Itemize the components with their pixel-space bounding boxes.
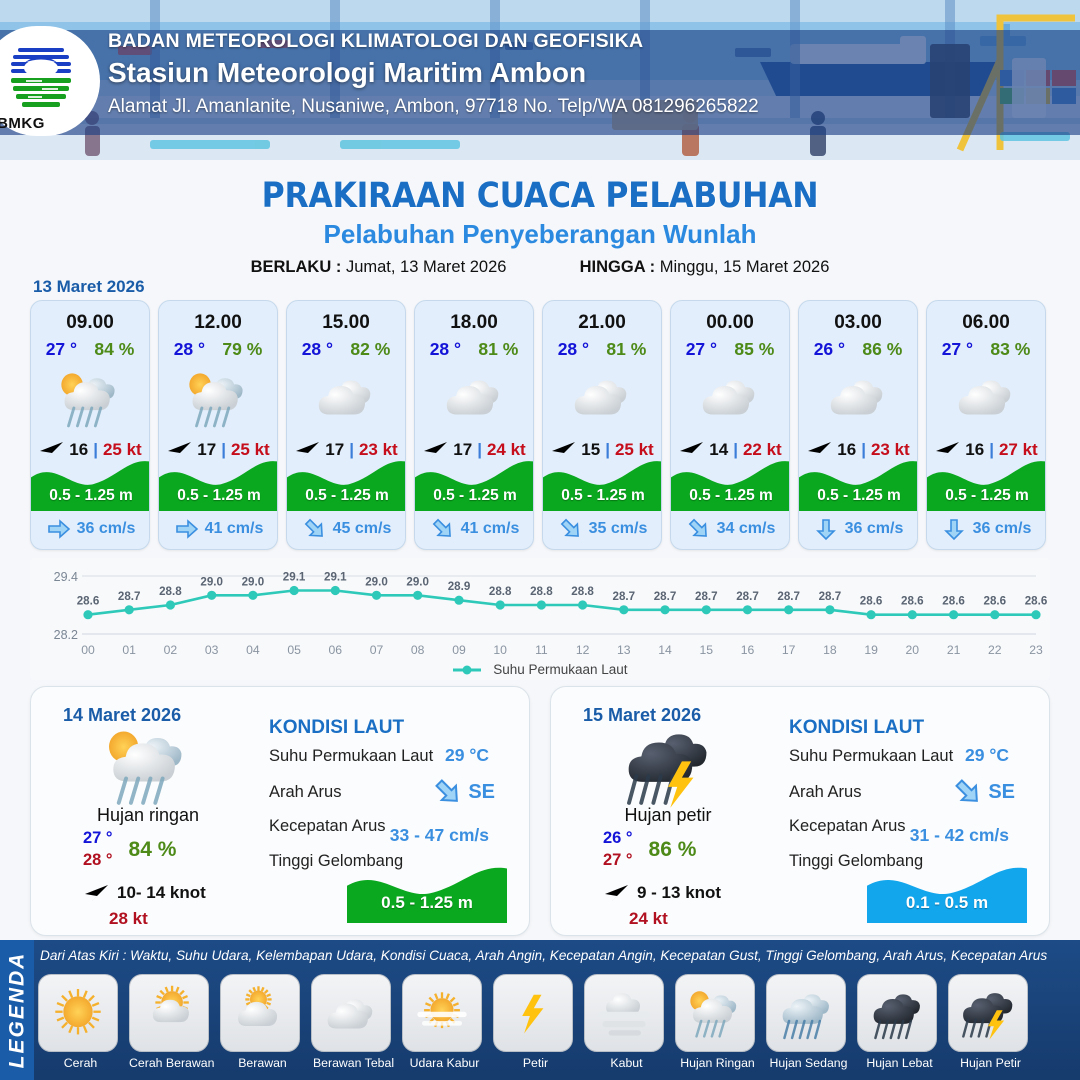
svg-text:28.6: 28.6 <box>942 595 965 608</box>
mostly-cloudy-icon <box>229 984 291 1041</box>
panel-temperatures: 26 ° 27 ° 86 % <box>603 829 696 870</box>
legend-item-label: Kabut <box>584 1056 669 1070</box>
card-weather-icon <box>31 362 149 434</box>
legend-icon-tile <box>857 974 937 1052</box>
svg-text:15: 15 <box>700 643 714 657</box>
legend-note: Dari Atas Kiri : Waktu, Suhu Udara, Kele… <box>40 948 1047 963</box>
legend-item: Udara Kabur <box>402 974 487 1070</box>
panel-temp-max: 27 ° <box>603 851 633 870</box>
svg-text:02: 02 <box>164 643 178 657</box>
card-weather-icon <box>927 362 1045 434</box>
legend-item-label: Hujan Lebat <box>857 1056 942 1070</box>
card-current-speed: 35 cm/s <box>589 520 648 538</box>
card-temperature: 27 ° <box>942 339 973 360</box>
panel-current-dir-value: SE <box>468 781 495 804</box>
svg-text:28.6: 28.6 <box>77 595 100 608</box>
card-weather-icon <box>159 362 277 434</box>
haze-icon <box>411 984 473 1041</box>
bmkg-logo-text: BMKG <box>0 115 60 132</box>
legend-item-label: Hujan Petir <box>948 1056 1033 1070</box>
svg-text:19: 19 <box>864 643 878 657</box>
legend-bar: LEGENDA Dari Atas Kiri : Waktu, Suhu Uda… <box>0 940 1080 1080</box>
card-weather-icon <box>671 362 789 434</box>
svg-text:28.7: 28.7 <box>613 590 636 603</box>
svg-text:29.1: 29.1 <box>324 571 347 584</box>
title-block: PRAKIRAAN CUACA PELABUHAN Pelabuhan Peny… <box>0 176 1080 277</box>
arrow-down-icon <box>943 517 967 541</box>
card-wave-height: 0.5 - 1.25 m <box>799 487 918 505</box>
legend-item: Kabut <box>584 974 669 1070</box>
card-humidity: 86 % <box>862 339 902 360</box>
card-temp-humidity: 27 ° 84 % <box>31 339 149 360</box>
arrow-down-right-icon <box>953 777 983 807</box>
card-temp-humidity: 27 ° 83 % <box>927 339 1045 360</box>
hingga-label: HINGGA : <box>580 258 655 276</box>
wind-direction-icon <box>603 883 629 903</box>
panel-condition: Hujan ringan <box>53 805 243 826</box>
svg-text:21: 21 <box>947 643 961 657</box>
card-time: 00.00 <box>671 312 789 334</box>
panel-humidity: 86 % <box>649 838 697 862</box>
hourly-forecast-card: 06.00 27 ° 83 % 16 | 27 kt <box>926 300 1046 550</box>
hingga-value: Minggu, 15 Maret 2026 <box>660 258 830 276</box>
svg-text:29.4: 29.4 <box>54 570 78 584</box>
panel-temperatures: 27 ° 28 ° 84 % <box>83 829 176 870</box>
wave-shape-icon <box>867 861 1027 923</box>
card-humidity: 79 % <box>222 339 262 360</box>
cloudy-icon <box>310 365 382 431</box>
rain-moderate-icon <box>775 984 837 1041</box>
svg-text:09: 09 <box>452 643 466 657</box>
card-temperature: 28 ° <box>174 339 205 360</box>
chart-legend-marker-icon <box>452 664 482 676</box>
overcast-icon <box>320 984 382 1041</box>
legend-spine: LEGENDA <box>0 940 34 1080</box>
card-current-speed: 36 cm/s <box>845 520 904 538</box>
svg-text:17: 17 <box>782 643 796 657</box>
cloudy-icon <box>950 365 1022 431</box>
card-current: 35 cm/s <box>543 517 662 541</box>
panel-wind-speed: 10- 14 knot <box>117 883 206 903</box>
panel-humidity: 84 % <box>129 838 177 862</box>
berlaku-label: BERLAKU : <box>251 258 342 276</box>
card-humidity: 83 % <box>990 339 1030 360</box>
daily-forecast-panel: 14 Maret 2026 Hujan ringan 27 ° 28 ° 84 … <box>30 686 530 936</box>
card-wave-height: 0.5 - 1.25 m <box>543 487 662 505</box>
daily-forecast-panel: 15 Maret 2026 Hujan petir 26 ° 27 ° 86 % <box>550 686 1050 936</box>
panel-wind: 10- 14 knot <box>83 883 206 903</box>
panel-current-dir-label: Arah Arus <box>789 783 861 802</box>
card-wave-height: 0.5 - 1.25 m <box>31 487 150 505</box>
legend-item: Hujan Sedang <box>766 974 851 1070</box>
card-current-speed: 45 cm/s <box>333 520 392 538</box>
legend-icon-tile <box>129 974 209 1052</box>
card-time: 09.00 <box>31 312 149 334</box>
card-temp-humidity: 27 ° 85 % <box>671 339 789 360</box>
legend-item-label: Berawan <box>220 1056 305 1070</box>
panel-sea-header: KONDISI LAUT <box>269 717 404 739</box>
panel-wave-value: 0.1 - 0.5 m <box>867 893 1027 913</box>
rain-light-icon <box>182 365 254 431</box>
card-current-speed: 36 cm/s <box>973 520 1032 538</box>
hourly-forecast-row: 09.00 27 ° 84 % 16 | 25 kt <box>30 300 1050 550</box>
panel-current-speed-value: 31 - 42 cm/s <box>910 825 1009 846</box>
svg-text:28.9: 28.9 <box>448 580 471 593</box>
panel-temp-min: 27 ° <box>83 829 113 848</box>
hourly-forecast-card: 18.00 28 ° 81 % 17 | 24 kt <box>414 300 534 550</box>
panel-gust: 28 kt <box>109 909 148 929</box>
svg-text:01: 01 <box>122 643 136 657</box>
hourly-forecast-card: 21.00 28 ° 81 % 15 | 25 kt <box>542 300 662 550</box>
legend-icon-tile <box>38 974 118 1052</box>
svg-text:00: 00 <box>81 643 95 657</box>
svg-text:22: 22 <box>988 643 1002 657</box>
panel-wave-graphic: 0.1 - 0.5 m <box>867 861 1027 923</box>
panel-temp-min: 26 ° <box>603 829 633 848</box>
panel-sst-label: Suhu Permukaan Laut <box>269 747 433 766</box>
panel-current-speed-value: 33 - 47 cm/s <box>390 825 489 846</box>
legend-icon-tile <box>766 974 846 1052</box>
legend-item-label: Cerah Berawan <box>129 1056 214 1070</box>
chart-legend-label: Suhu Permukaan Laut <box>493 662 627 677</box>
wind-direction-icon <box>83 883 109 903</box>
panel-wave-graphic: 0.5 - 1.25 m <box>347 861 507 923</box>
panel-current-dir-value: SE <box>988 781 1015 804</box>
card-weather-icon <box>415 362 533 434</box>
chart-legend: Suhu Permukaan Laut <box>0 662 1080 677</box>
svg-text:28.8: 28.8 <box>571 585 594 598</box>
svg-text:28.7: 28.7 <box>654 590 677 603</box>
legend-spine-label: LEGENDA <box>5 952 29 1069</box>
lightning-icon <box>502 984 564 1041</box>
page-header: BMKG BADAN METEOROLOGI KLIMATOLOGI DAN G… <box>0 0 1080 160</box>
svg-text:29.1: 29.1 <box>283 571 306 584</box>
legend-items: Cerah Cerah Berawan <box>38 974 1080 1070</box>
svg-text:28.6: 28.6 <box>901 595 924 608</box>
card-temp-humidity: 26 ° 86 % <box>799 339 917 360</box>
panel-wave-value: 0.5 - 1.25 m <box>347 893 507 913</box>
hourly-forecast-card: 09.00 27 ° 84 % 16 | 25 kt <box>30 300 150 550</box>
card-wave-height: 0.5 - 1.25 m <box>287 487 406 505</box>
card-weather-icon <box>799 362 917 434</box>
arrow-right-icon <box>47 517 71 541</box>
card-temperature: 28 ° <box>302 339 333 360</box>
legend-icon-tile <box>675 974 755 1052</box>
legend-icon-tile <box>402 974 482 1052</box>
svg-text:20: 20 <box>906 643 920 657</box>
card-time: 18.00 <box>415 312 533 334</box>
legend-item-label: Berawan Tebal <box>311 1056 396 1070</box>
card-time: 12.00 <box>159 312 277 334</box>
legend-item-label: Cerah <box>38 1056 123 1070</box>
svg-text:28.6: 28.6 <box>984 595 1007 608</box>
page-title: PRAKIRAAN CUACA PELABUHAN <box>0 176 1080 216</box>
panel-wind-speed: 9 - 13 knot <box>637 883 721 903</box>
legend-icon-tile <box>584 974 664 1052</box>
legend-item: Hujan Ringan <box>675 974 760 1070</box>
arrow-down-right-icon <box>433 777 463 807</box>
card-current: 41 cm/s <box>159 517 278 541</box>
card-humidity: 84 % <box>94 339 134 360</box>
legend-icon-tile <box>311 974 391 1052</box>
cloudy-icon <box>566 365 638 431</box>
svg-text:28.6: 28.6 <box>860 595 883 608</box>
panel-sst-label: Suhu Permukaan Laut <box>789 747 953 766</box>
arrow-right-icon <box>175 517 199 541</box>
hourly-forecast-card: 03.00 26 ° 86 % 16 | 23 kt <box>798 300 918 550</box>
svg-text:11: 11 <box>535 643 548 657</box>
cloudy-icon <box>694 365 766 431</box>
panel-sea-header: KONDISI LAUT <box>789 717 924 739</box>
card-temp-humidity: 28 ° 81 % <box>543 339 661 360</box>
arrow-down-right-icon <box>303 517 327 541</box>
card-time: 06.00 <box>927 312 1045 334</box>
hourly-forecast-card: 12.00 28 ° 79 % 17 | 25 kt <box>158 300 278 550</box>
legend-item: Petir <box>493 974 578 1070</box>
panel-current-dir-label: Arah Arus <box>269 783 341 802</box>
card-humidity: 82 % <box>350 339 390 360</box>
legend-item: Hujan Petir <box>948 974 1033 1070</box>
card-temp-humidity: 28 ° 79 % <box>159 339 277 360</box>
hourly-forecast-card: 15.00 28 ° 82 % 17 | 23 kt <box>286 300 406 550</box>
thunderstorm-icon <box>619 720 717 810</box>
card-humidity: 81 % <box>478 339 518 360</box>
svg-text:14: 14 <box>658 643 672 657</box>
svg-text:28.2: 28.2 <box>54 628 78 642</box>
svg-text:28.7: 28.7 <box>118 590 141 603</box>
panel-sst-value: 29 °C <box>445 745 489 766</box>
card-current-speed: 36 cm/s <box>77 520 136 538</box>
legend-item-label: Hujan Sedang <box>766 1056 851 1070</box>
thunderstorm-icon <box>957 984 1019 1041</box>
card-temperature: 27 ° <box>46 339 77 360</box>
svg-text:28.7: 28.7 <box>695 590 718 603</box>
panel-current-speed-label: Kecepatan Arus <box>789 817 906 836</box>
sunny-icon <box>47 984 109 1041</box>
svg-text:06: 06 <box>329 643 343 657</box>
svg-text:29.0: 29.0 <box>242 575 265 588</box>
svg-text:28.7: 28.7 <box>819 590 842 603</box>
daily-forecast-panels: 14 Maret 2026 Hujan ringan 27 ° 28 ° 84 … <box>30 686 1050 936</box>
station-address: Alamat Jl. Amanlanite, Nusaniwe, Ambon, … <box>108 96 759 118</box>
svg-text:29.0: 29.0 <box>365 575 388 588</box>
card-weather-icon <box>543 362 661 434</box>
card-humidity: 85 % <box>734 339 774 360</box>
cloudy-icon <box>822 365 894 431</box>
card-temperature: 27 ° <box>686 339 717 360</box>
card-wave-height: 0.5 - 1.25 m <box>927 487 1046 505</box>
svg-text:28.8: 28.8 <box>159 585 182 598</box>
partly-cloudy-icon <box>138 984 200 1041</box>
legend-item: Cerah Berawan <box>129 974 214 1070</box>
fog-icon <box>593 984 655 1041</box>
legend-icon-tile <box>493 974 573 1052</box>
legend-item: Cerah <box>38 974 123 1070</box>
berlaku-value: Jumat, 13 Maret 2026 <box>346 258 507 276</box>
wave-shape-icon <box>347 861 507 923</box>
rain-light-icon <box>684 984 746 1041</box>
arrow-down-right-icon <box>431 517 455 541</box>
card-current: 34 cm/s <box>671 517 790 541</box>
hourly-forecast-card: 00.00 27 ° 85 % 14 | 22 kt <box>670 300 790 550</box>
svg-text:28.8: 28.8 <box>530 585 553 598</box>
card-current: 36 cm/s <box>799 517 918 541</box>
legend-item: Berawan Tebal <box>311 974 396 1070</box>
card-current-speed: 41 cm/s <box>205 520 264 538</box>
card-temperature: 28 ° <box>430 339 461 360</box>
validity-line: BERLAKU : Jumat, 13 Maret 2026 HINGGA : … <box>0 258 1080 277</box>
panel-condition: Hujan petir <box>573 805 763 826</box>
card-current: 41 cm/s <box>415 517 534 541</box>
card-wave-height: 0.5 - 1.25 m <box>671 487 790 505</box>
card-time: 21.00 <box>543 312 661 334</box>
panel-current-speed-label: Kecepatan Arus <box>269 817 386 836</box>
card-current-speed: 41 cm/s <box>461 520 520 538</box>
svg-text:07: 07 <box>370 643 384 657</box>
panel-sst-value: 29 °C <box>965 745 1009 766</box>
rain-light-icon <box>54 365 126 431</box>
svg-text:28.7: 28.7 <box>777 590 800 603</box>
svg-text:18: 18 <box>823 643 837 657</box>
cloudy-icon <box>438 365 510 431</box>
svg-text:13: 13 <box>617 643 631 657</box>
svg-text:05: 05 <box>287 643 301 657</box>
panel-weather-icon <box>593 725 743 805</box>
card-temperature: 28 ° <box>558 339 589 360</box>
panel-current-direction: SE <box>433 777 495 807</box>
forecast-date-label: 13 Maret 2026 <box>33 277 145 297</box>
arrow-down-icon <box>815 517 839 541</box>
legend-item: Hujan Lebat <box>857 974 942 1070</box>
legend-icon-tile <box>220 974 300 1052</box>
rain-heavy-icon <box>866 984 928 1041</box>
svg-text:08: 08 <box>411 643 425 657</box>
arrow-down-right-icon <box>559 517 583 541</box>
legend-item-label: Udara Kabur <box>402 1056 487 1070</box>
svg-text:28.6: 28.6 <box>1025 595 1048 608</box>
svg-text:29.0: 29.0 <box>406 575 429 588</box>
panel-gust: 24 kt <box>629 909 668 929</box>
card-temp-humidity: 28 ° 82 % <box>287 339 405 360</box>
svg-text:28.7: 28.7 <box>736 590 759 603</box>
header-text-block: BADAN METEOROLOGI KLIMATOLOGI DAN GEOFIS… <box>108 30 759 118</box>
page-subtitle: Pelabuhan Penyeberangan Wunlah <box>0 219 1080 250</box>
card-current-speed: 34 cm/s <box>717 520 776 538</box>
legend-item: Berawan <box>220 974 305 1070</box>
svg-text:04: 04 <box>246 643 260 657</box>
agency-name: BADAN METEOROLOGI KLIMATOLOGI DAN GEOFIS… <box>108 30 759 53</box>
rain-light-icon <box>99 720 197 810</box>
svg-text:10: 10 <box>493 643 507 657</box>
card-temp-humidity: 28 ° 81 % <box>415 339 533 360</box>
card-time: 15.00 <box>287 312 405 334</box>
svg-text:28.8: 28.8 <box>489 585 512 598</box>
svg-text:23: 23 <box>1029 643 1043 657</box>
legend-item-label: Petir <box>493 1056 578 1070</box>
legend-item-label: Hujan Ringan <box>675 1056 760 1070</box>
legend-icon-tile <box>948 974 1028 1052</box>
panel-current-direction: SE <box>953 777 1015 807</box>
card-current: 36 cm/s <box>31 517 150 541</box>
svg-text:16: 16 <box>741 643 755 657</box>
card-time: 03.00 <box>799 312 917 334</box>
card-wave-height: 0.5 - 1.25 m <box>159 487 278 505</box>
panel-wind: 9 - 13 knot <box>603 883 721 903</box>
card-humidity: 81 % <box>606 339 646 360</box>
svg-text:12: 12 <box>576 643 590 657</box>
card-current: 36 cm/s <box>927 517 1046 541</box>
panel-weather-icon <box>73 725 223 805</box>
station-name: Stasiun Meteorologi Maritim Ambon <box>108 57 759 89</box>
svg-text:03: 03 <box>205 643 219 657</box>
card-temperature: 26 ° <box>814 339 845 360</box>
card-weather-icon <box>287 362 405 434</box>
svg-text:29.0: 29.0 <box>200 575 223 588</box>
arrow-down-right-icon <box>687 517 711 541</box>
panel-temp-max: 28 ° <box>83 851 113 870</box>
card-current: 45 cm/s <box>287 517 406 541</box>
card-wave-height: 0.5 - 1.25 m <box>415 487 534 505</box>
